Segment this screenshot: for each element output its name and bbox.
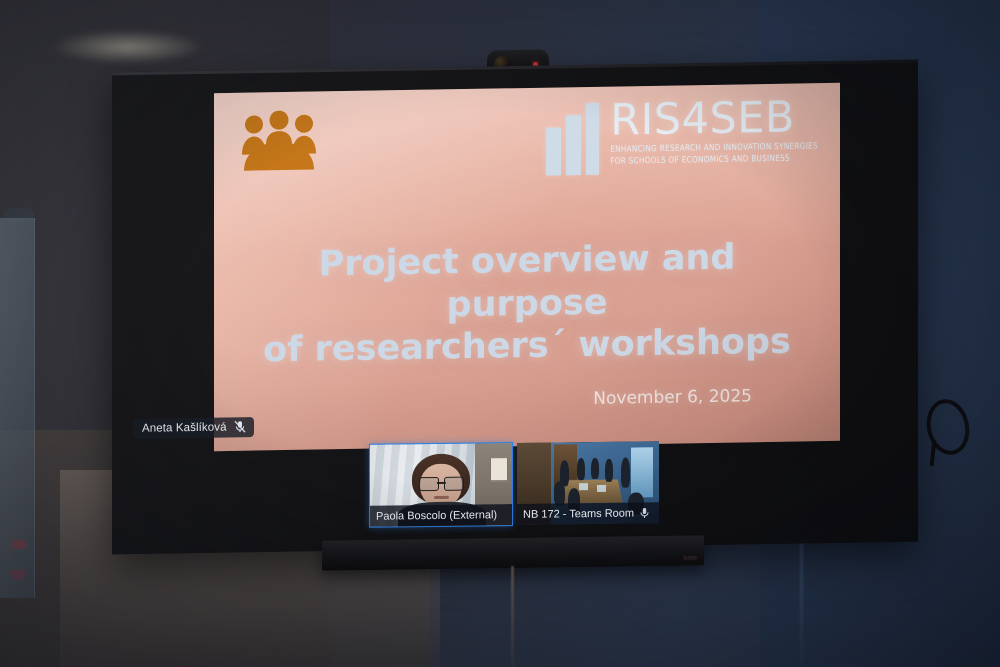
room-window	[631, 447, 653, 497]
presenter-name: Aneta Kašlíková	[142, 421, 227, 434]
laptop-icon	[579, 483, 588, 490]
person-silhouette	[621, 458, 630, 488]
tile-participant-name: Paola Boscolo (External)	[376, 509, 497, 522]
participant-video-strip: Paola Boscolo (External) NB 172 - Teams …	[370, 441, 659, 527]
screen-vignette	[214, 83, 840, 451]
person-silhouette	[577, 459, 585, 481]
microphone-muted-icon	[234, 420, 246, 433]
eyeglasses-icon	[419, 477, 464, 490]
tile-label: Paola Boscolo (External)	[370, 504, 512, 527]
tile-room-name: NB 172 - Teams Room	[523, 507, 634, 520]
shared-presentation-slide[interactable]: RIS4SEB ENHANCING RESEARCH AND INNOVATIO…	[214, 83, 840, 451]
laptop-icon	[597, 485, 606, 492]
ceiling-light-glow	[52, 30, 202, 64]
soundbar-brand: bose	[684, 555, 697, 561]
video-tile-nb-172-teams-room[interactable]: NB 172 - Teams Room	[517, 441, 659, 525]
microphone-on-icon	[640, 507, 649, 519]
participant-mouth	[434, 496, 449, 499]
person-silhouette	[554, 482, 565, 506]
picture-frame	[490, 457, 508, 481]
video-tile-paola-boscolo[interactable]: Paola Boscolo (External)	[370, 443, 512, 527]
meeting-room-scene: RIS4SEB ENHANCING RESEARCH AND INNOVATIO…	[0, 0, 1000, 667]
person-silhouette	[605, 459, 613, 482]
tile-label: NB 172 - Teams Room	[517, 502, 659, 525]
power-cable	[511, 566, 514, 667]
flipchart-marking	[12, 540, 26, 549]
presenter-name-label: Aneta Kašlíková	[133, 417, 254, 439]
person-silhouette	[591, 458, 599, 479]
